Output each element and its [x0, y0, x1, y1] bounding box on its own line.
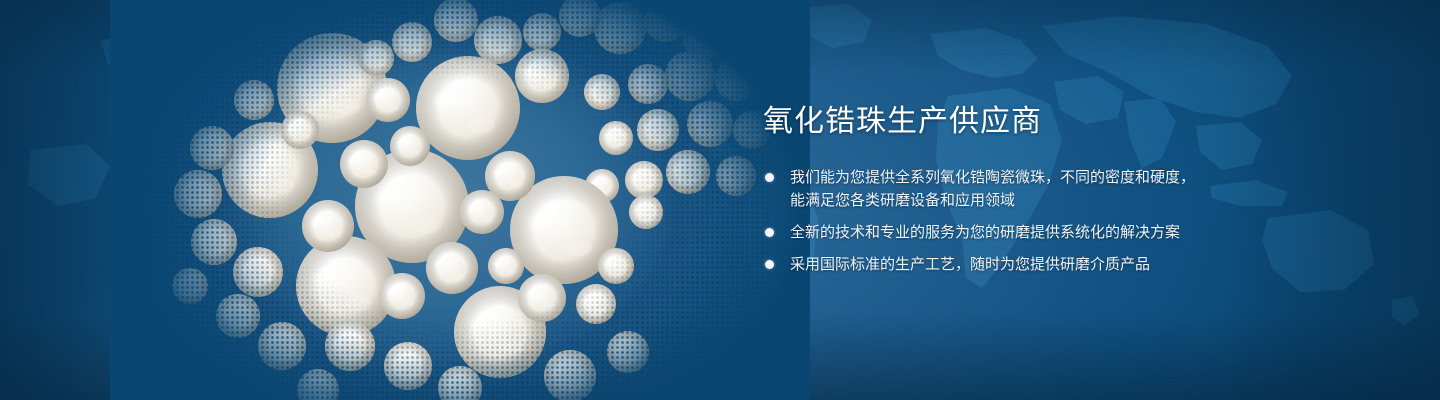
list-item-line2: 能满足您各类研磨设备和应用领域	[790, 189, 1363, 212]
feature-list: 我们能为您提供全系列氧化锆陶瓷微珠，不同的密度和硬度， 能满足您各类研磨设备和应…	[763, 166, 1363, 276]
list-item-line1: 采用国际标准的生产工艺，随时为您提供研磨介质产品	[790, 255, 1150, 273]
bullet-dot-icon	[765, 173, 774, 182]
list-item: 采用国际标准的生产工艺，随时为您提供研磨介质产品	[763, 253, 1363, 276]
hero-banner: 氧化锆珠生产供应商 我们能为您提供全系列氧化锆陶瓷微珠，不同的密度和硬度， 能满…	[0, 0, 1440, 400]
banner-copy: 氧化锆珠生产供应商 我们能为您提供全系列氧化锆陶瓷微珠，不同的密度和硬度， 能满…	[763, 104, 1363, 276]
list-item: 全新的技术和专业的服务为您的研磨提供系统化的解决方案	[763, 221, 1363, 244]
list-item-line1: 全新的技术和专业的服务为您的研磨提供系统化的解决方案	[790, 223, 1180, 241]
bullet-dot-icon	[765, 228, 774, 237]
list-item: 我们能为您提供全系列氧化锆陶瓷微珠，不同的密度和硬度， 能满足您各类研磨设备和应…	[763, 166, 1363, 212]
page-title: 氧化锆珠生产供应商	[763, 104, 1363, 140]
list-item-line1: 我们能为您提供全系列氧化锆陶瓷微珠，不同的密度和硬度，	[790, 168, 1195, 186]
zirconia-beads-photo	[150, 0, 770, 400]
bullet-dot-icon	[765, 260, 774, 269]
photo-edge-fade	[110, 0, 810, 400]
